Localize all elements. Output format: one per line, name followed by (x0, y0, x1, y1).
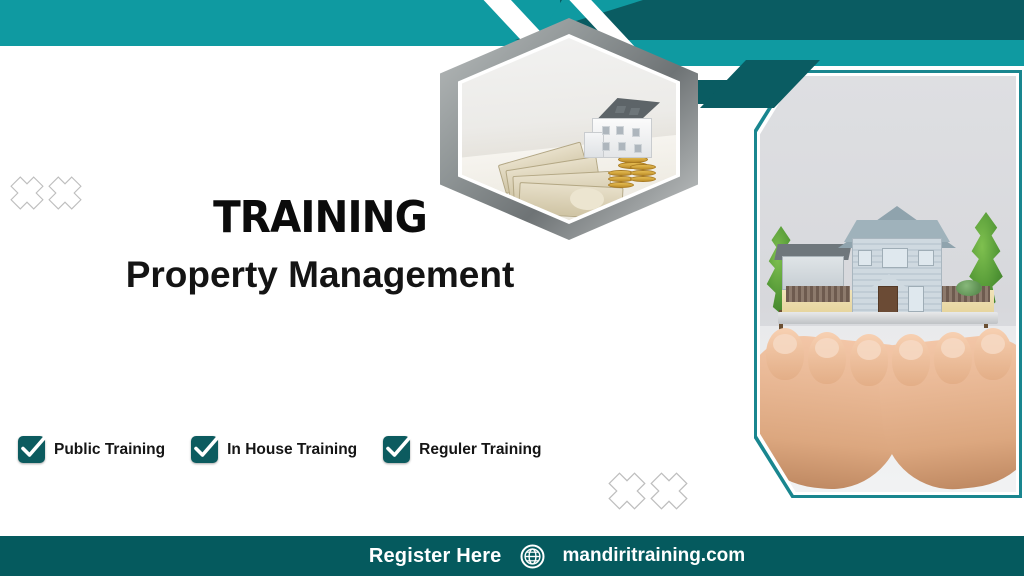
x-mark-icon (650, 472, 688, 510)
page-title-eyebrow: TRAINING (26, 196, 615, 240)
hexagon-photo-content (760, 76, 1016, 492)
coin-stack-b-3 (608, 182, 634, 188)
option-in-house-training[interactable]: In House Training (191, 436, 357, 463)
footer-content: Register Here mandiritraining.com (369, 544, 745, 569)
house-window-1 (602, 126, 610, 135)
finger-4 (892, 334, 930, 386)
finger-6 (974, 328, 1012, 380)
house-window-1 (858, 250, 872, 266)
checkbox-checked-icon[interactable] (18, 436, 45, 463)
page-title-subject: Property Management (0, 256, 640, 293)
hexagon-photo-hands-holding-house (752, 68, 1024, 500)
option-reguler-training[interactable]: Reguler Training (383, 436, 541, 463)
decor-x-marks-bottom (608, 472, 688, 510)
house-window-2 (616, 126, 624, 135)
training-options-row: Public Training In House Training Regule… (18, 436, 541, 463)
house-window-6 (634, 144, 642, 153)
x-mark-icon (608, 472, 646, 510)
model-house (838, 194, 956, 314)
finger-2 (808, 332, 846, 384)
checkbox-checked-icon[interactable] (191, 436, 218, 463)
checkbox-checked-icon[interactable] (383, 436, 410, 463)
option-label: Reguler Training (419, 441, 541, 459)
globe-icon (520, 544, 545, 569)
fingernail (815, 338, 839, 358)
house-window-3 (918, 250, 934, 266)
finger-1 (766, 328, 804, 380)
finger-3 (850, 334, 888, 386)
poster-canvas: TRAINING Property Management Public Trai… (0, 0, 1024, 576)
fingernail (899, 340, 923, 360)
finger-5 (934, 332, 972, 384)
house-window-4 (908, 286, 924, 312)
footer-bar: Register Here mandiritraining.com (0, 536, 1024, 576)
hero-title-block: TRAINING Property Management (0, 196, 640, 293)
option-public-training[interactable]: Public Training (18, 436, 165, 463)
website-url[interactable]: mandiritraining.com (563, 545, 746, 567)
house-window-3 (632, 128, 640, 137)
house-window-5 (618, 142, 626, 151)
house-wing (584, 132, 604, 158)
option-label: Public Training (54, 441, 165, 459)
fingernail (981, 334, 1005, 354)
house-door (878, 286, 898, 314)
model-garage (782, 256, 844, 290)
model-bush-2 (956, 280, 982, 296)
model-base-platform (778, 312, 998, 324)
house-window-2 (882, 248, 908, 268)
fingernail (941, 338, 965, 358)
house-window-4 (602, 142, 610, 151)
fingernail (773, 334, 797, 354)
option-label: In House Training (227, 441, 357, 459)
model-house (582, 96, 660, 158)
coin-stack-c-3 (630, 176, 656, 182)
fingernail (857, 340, 881, 360)
register-here-label[interactable]: Register Here (369, 545, 502, 568)
